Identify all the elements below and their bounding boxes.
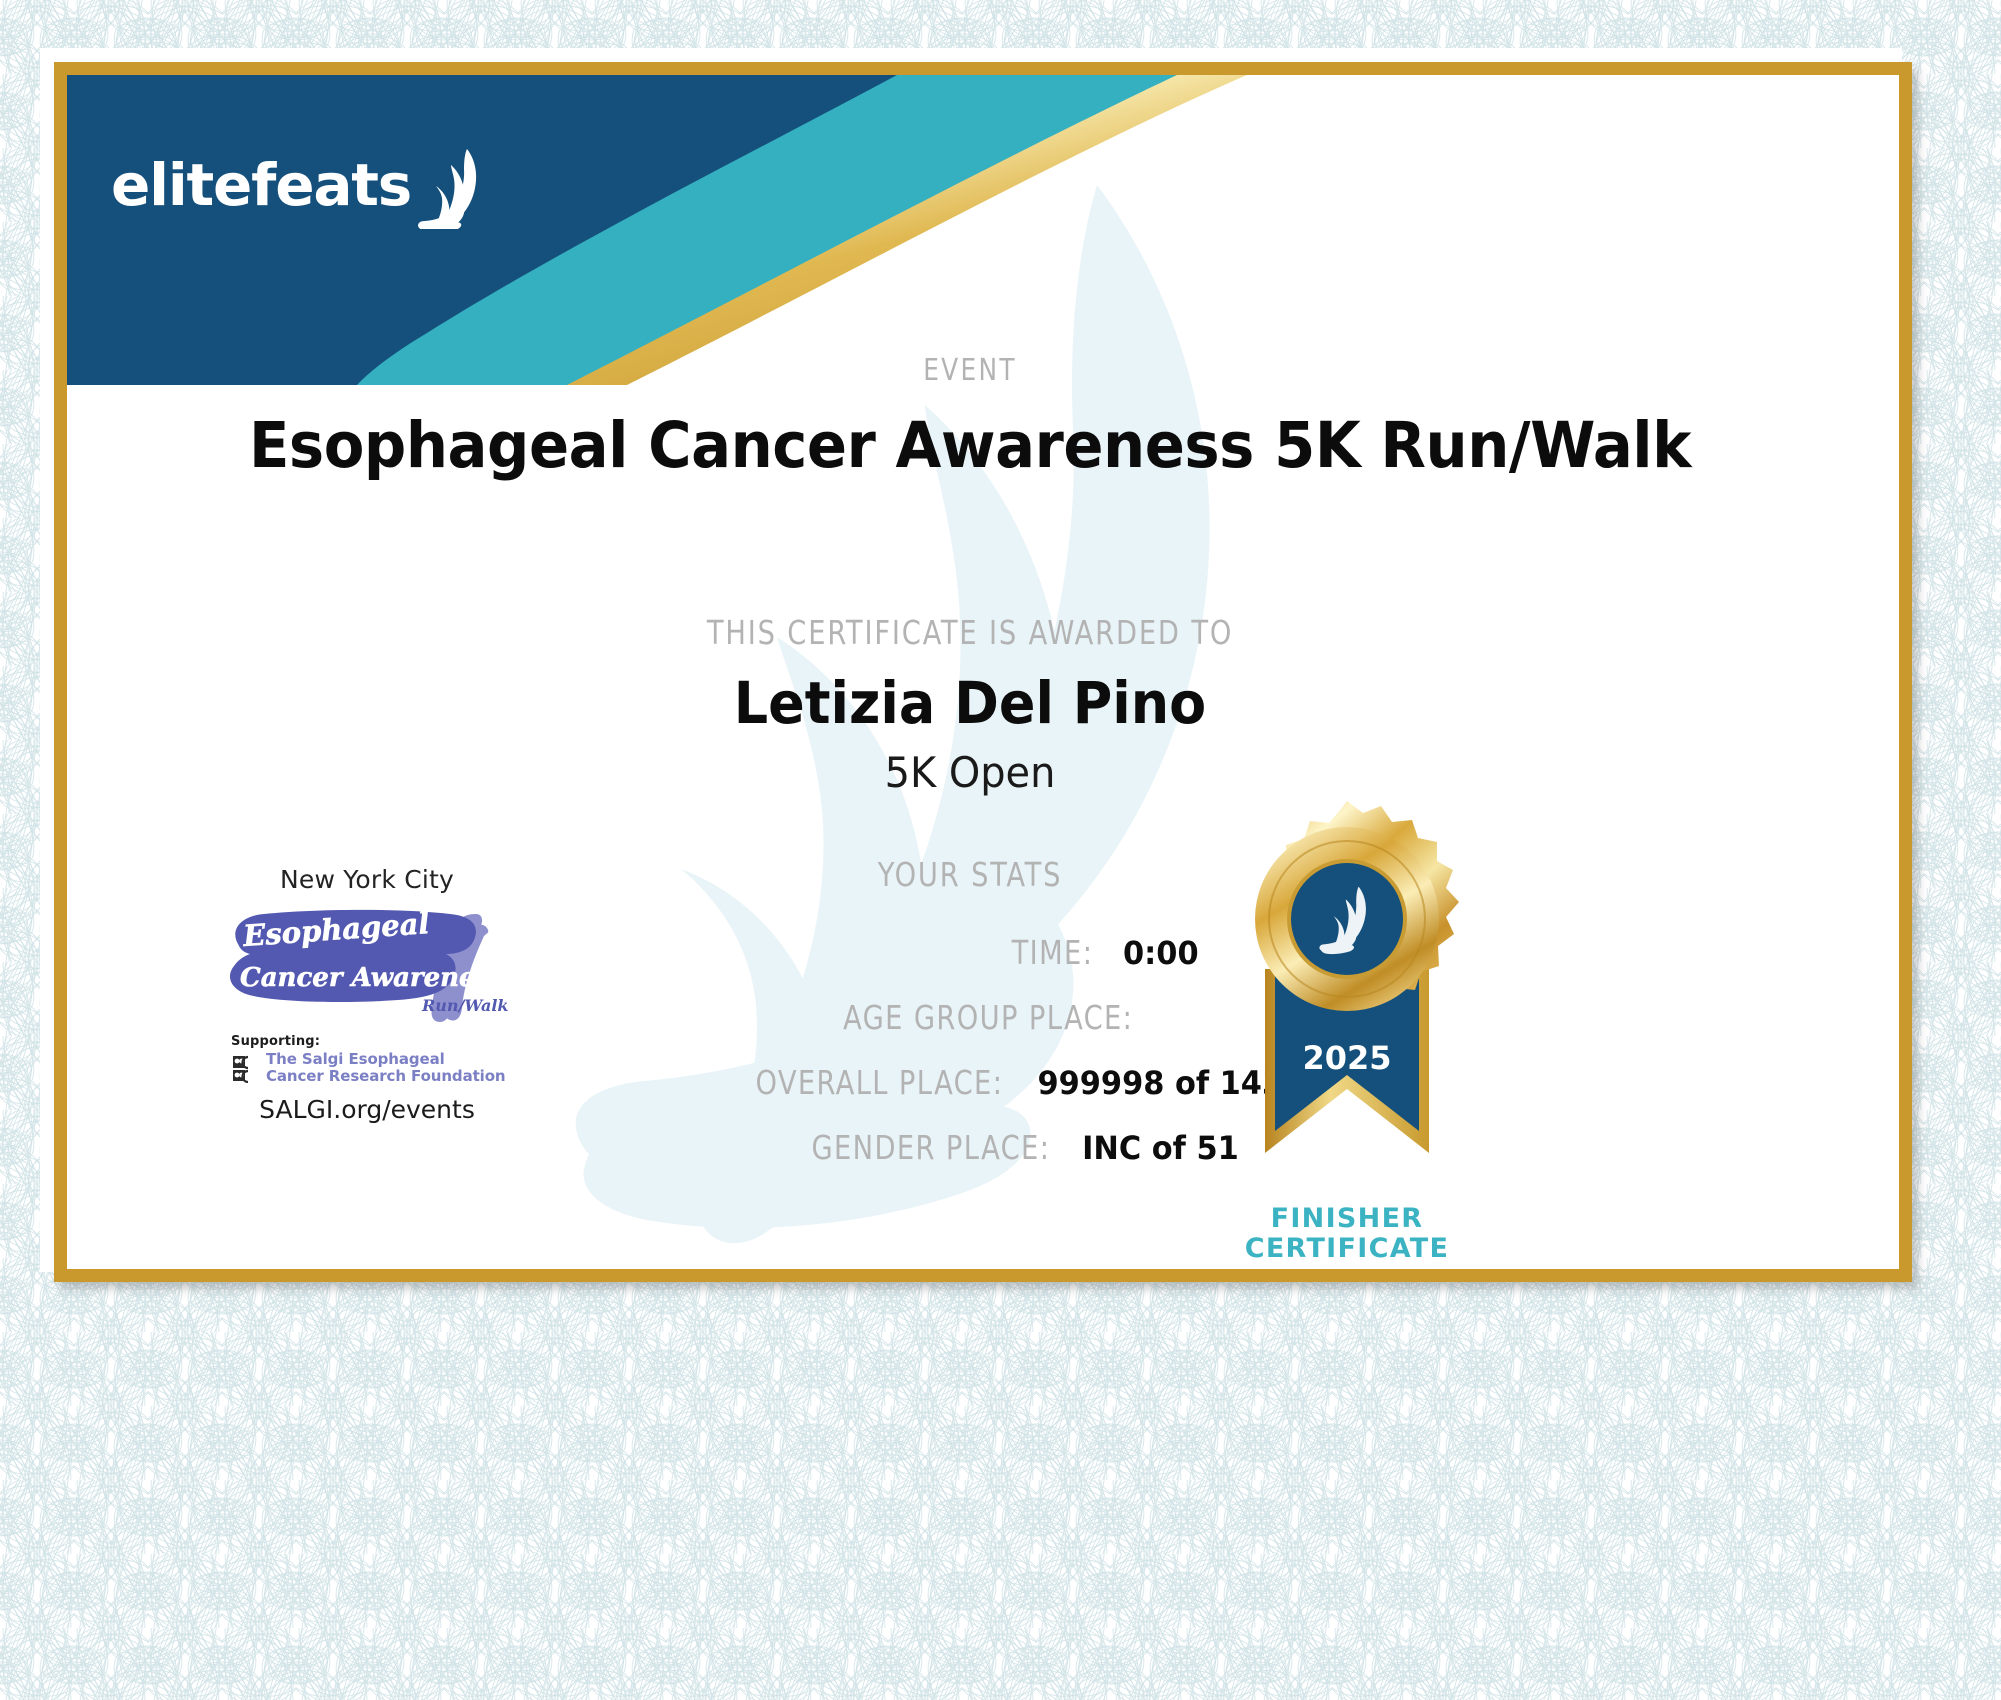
sponsor-url: SALGI.org/events [207, 1095, 527, 1124]
supporting-block: Supporting: [207, 1034, 527, 1085]
svg-text:Cancer Awareness: Cancer Awareness [240, 963, 505, 993]
stat-key-gender-place: GENDER PLACE: [712, 1128, 1051, 1167]
finisher-medal-block: 2025 FINISHER CERTIFICATE [1207, 801, 1487, 1263]
awardee-name: Letizia Del Pino [130, 669, 1810, 737]
finisher-caption-line2: CERTIFICATE [1207, 1234, 1487, 1264]
certificate-card: elitefeats EVENT Esophageal Cancer Aware… [54, 62, 1912, 1282]
esophageal-cancer-awareness-logo: Esophageal Cancer Awareness Run/Walk [222, 906, 512, 1024]
certificate-page: elitefeats EVENT Esophageal Cancer Aware… [0, 0, 2001, 1700]
finisher-medal-icon: 2025 [1217, 801, 1477, 1191]
svg-text:Run/Walk: Run/Walk [421, 996, 509, 1015]
salgi-foundation-line1: The Salgi Esophageal [266, 1051, 506, 1068]
event-label: EVENT [139, 353, 1801, 388]
certificate-content: EVENT Esophageal Cancer Awareness 5K Run… [67, 75, 1899, 1269]
sponsor-block: New York City Esophageal Cancer Awarenes… [207, 865, 527, 1124]
medal-year: 2025 [1302, 1039, 1391, 1077]
salgi-foundation-line2: Cancer Research Foundation [266, 1068, 506, 1085]
stat-value-time: 0:00 [1123, 934, 1199, 972]
awardee-division: 5K Open [112, 748, 1828, 797]
salgi-foundation-icon [231, 1053, 261, 1083]
awarded-to-label: THIS CERTIFICATE IS AWARDED TO [139, 613, 1801, 652]
finisher-caption-line1: FINISHER [1207, 1204, 1487, 1234]
stat-row-gender-place: GENDER PLACE: INC of 51 [67, 1128, 1873, 1167]
sponsor-city: New York City [207, 865, 527, 894]
event-title: Esophageal Cancer Awareness 5K Run/Walk [121, 409, 1819, 482]
supporting-label: Supporting: [231, 1034, 506, 1049]
stat-key-overall-place: OVERALL PLACE: [665, 1063, 1004, 1102]
stat-key-time: TIME: [754, 933, 1093, 972]
finisher-caption: FINISHER CERTIFICATE [1207, 1204, 1487, 1263]
stat-key-age-group-place: AGE GROUP PLACE: [794, 998, 1133, 1037]
